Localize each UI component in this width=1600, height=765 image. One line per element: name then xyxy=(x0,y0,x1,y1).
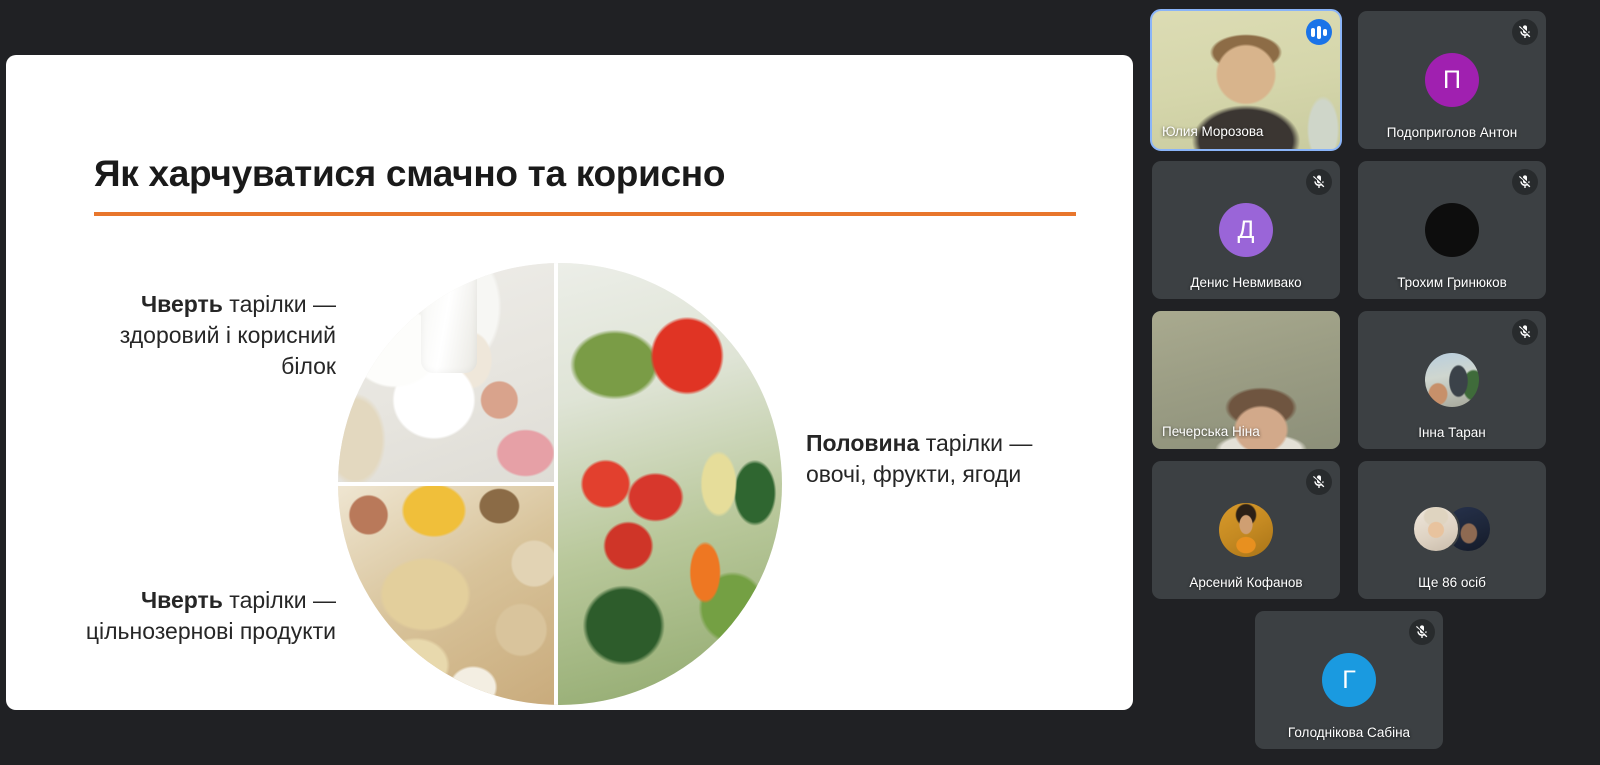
mic-off-icon xyxy=(1512,169,1538,195)
participant-tile-holodnikova-sabina[interactable]: Г Голоднікова Сабіна xyxy=(1255,611,1443,749)
participant-name: Юлия Морозова xyxy=(1152,124,1340,139)
avatar xyxy=(1412,505,1460,553)
participant-tile-arsenii-kofanov[interactable]: Арсений Кофанов xyxy=(1152,461,1340,599)
participant-tile-pecherska-nina[interactable]: Печерська Ніна xyxy=(1152,311,1340,449)
participant-name: Інна Таран xyxy=(1358,425,1546,440)
mic-off-icon xyxy=(1512,19,1538,45)
meeting-stage: Як харчуватися смачно та корисно Чверть … xyxy=(0,0,1600,765)
participant-tile-denys-nevmyvako[interactable]: Д Денис Невмивако xyxy=(1152,161,1340,299)
participant-tile-podoprygolov-anton[interactable]: П Подоприголов Антон xyxy=(1358,11,1546,149)
callout-grains: Чверть тарілки — цільнозернові продукти xyxy=(41,585,336,647)
slide-title: Як харчуватися смачно та корисно xyxy=(94,153,1084,195)
participant-name: Денис Невмивако xyxy=(1152,275,1340,290)
callout-protein: Чверть тарілки — здоровий і корисний біл… xyxy=(66,289,336,381)
avatar: Г xyxy=(1322,653,1376,707)
plate-half-vegetables xyxy=(556,263,782,705)
participant-name: Голоднікова Сабіна xyxy=(1255,725,1443,740)
participant-tile-overflow-count[interactable]: Ще 86 осіб xyxy=(1358,461,1546,599)
participant-name: Арсений Кофанов xyxy=(1152,575,1340,590)
plate-divider-horizontal xyxy=(338,482,556,486)
participant-name: Подоприголов Антон xyxy=(1358,125,1546,140)
plate-quadrant-protein xyxy=(338,263,556,484)
audio-level-icon xyxy=(1306,19,1332,45)
healthy-plate-diagram xyxy=(338,263,782,705)
callout-vegetables: Половина тарілки — овочі, фрукти, ягоди xyxy=(806,428,1096,490)
participant-name: Печерська Ніна xyxy=(1152,424,1340,439)
avatar xyxy=(1425,353,1479,407)
participant-tile-yuliya-morozova[interactable]: Юлия Морозова xyxy=(1152,11,1340,149)
participant-tile-trokhym-hryniukov[interactable]: Трохим Гринюков xyxy=(1358,161,1546,299)
mic-off-icon xyxy=(1306,469,1332,495)
slide-title-underline xyxy=(94,212,1076,216)
callout-grains-emphasis: Чверть xyxy=(141,587,223,613)
avatar: П xyxy=(1425,53,1479,107)
overflow-participants-label: Ще 86 осіб xyxy=(1358,575,1546,590)
participant-tile-inna-taran[interactable]: Інна Таран xyxy=(1358,311,1546,449)
avatar xyxy=(1219,503,1273,557)
avatar: Д xyxy=(1219,203,1273,257)
avatar xyxy=(1425,203,1479,257)
mic-off-icon xyxy=(1512,319,1538,345)
plate-quadrant-grains xyxy=(338,484,556,705)
avatar-group xyxy=(1412,505,1492,553)
mic-off-icon xyxy=(1409,619,1435,645)
participants-filmstrip: Юлия Морозова П Подоприголов Антон Д xyxy=(1145,0,1600,765)
participant-name: Трохим Гринюков xyxy=(1358,275,1546,290)
shared-screen-slide[interactable]: Як харчуватися смачно та корисно Чверть … xyxy=(6,55,1133,710)
callout-vegetables-emphasis: Половина xyxy=(806,430,919,456)
callout-protein-emphasis: Чверть xyxy=(141,291,223,317)
mic-off-icon xyxy=(1306,169,1332,195)
